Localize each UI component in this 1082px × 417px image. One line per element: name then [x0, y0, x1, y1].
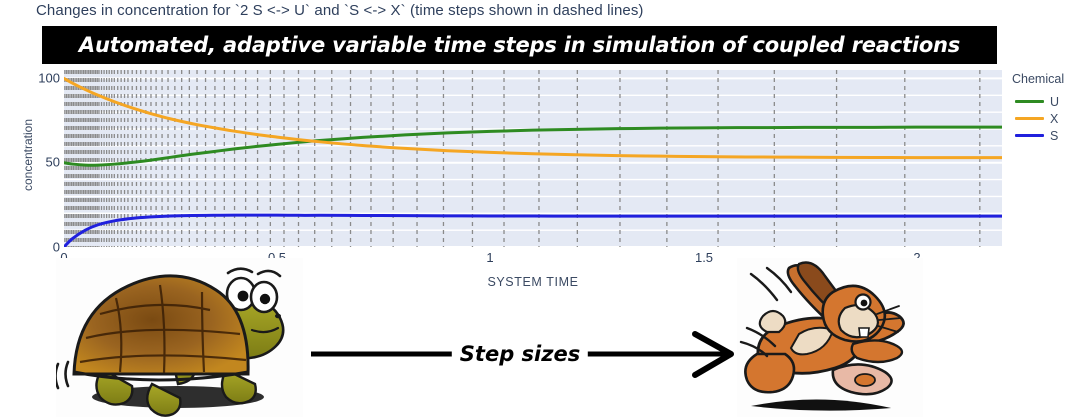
plot-svg [64, 70, 1002, 247]
title-banner-text: Automated, adaptive variable time steps … [79, 33, 960, 57]
arrow-icon [303, 258, 737, 417]
legend-swatch-x [1015, 117, 1044, 120]
arrow-label: Step sizes [452, 342, 588, 366]
running-hare-icon [737, 258, 923, 417]
legend-item-s[interactable]: S [1012, 127, 1082, 144]
legend-swatch-s [1015, 134, 1044, 137]
plot-area [64, 70, 1002, 247]
legend-item-x[interactable]: X [1012, 110, 1082, 127]
series-line-S [64, 215, 1002, 247]
y-tick-0: 0 [53, 240, 60, 255]
legend-label-x: X [1050, 112, 1058, 126]
step-size-arrow: Step sizes [303, 258, 737, 417]
legend-label-u: U [1050, 95, 1059, 109]
figure-caption: Changes in concentration for `2 S <-> U`… [36, 2, 644, 19]
legend-title: Chemical [1012, 72, 1082, 86]
y-tick-100: 100 [38, 70, 60, 85]
title-banner: Automated, adaptive variable time steps … [42, 26, 997, 64]
hare-image [737, 258, 923, 417]
horizontal-gridlines [64, 78, 1002, 247]
illustration-row: Step sizes [0, 258, 1082, 417]
y-axis-ticks: 0 50 100 [18, 70, 62, 247]
y-tick-50: 50 [46, 155, 60, 170]
tortoise-image [56, 258, 303, 417]
legend-label-s: S [1050, 129, 1058, 143]
chart-legend: Chemical U X S [1012, 72, 1082, 144]
legend-swatch-u [1015, 100, 1044, 103]
tortoise-icon [56, 258, 303, 417]
legend-item-u[interactable]: U [1012, 93, 1082, 110]
figure-root: Changes in concentration for `2 S <-> U`… [0, 0, 1082, 417]
